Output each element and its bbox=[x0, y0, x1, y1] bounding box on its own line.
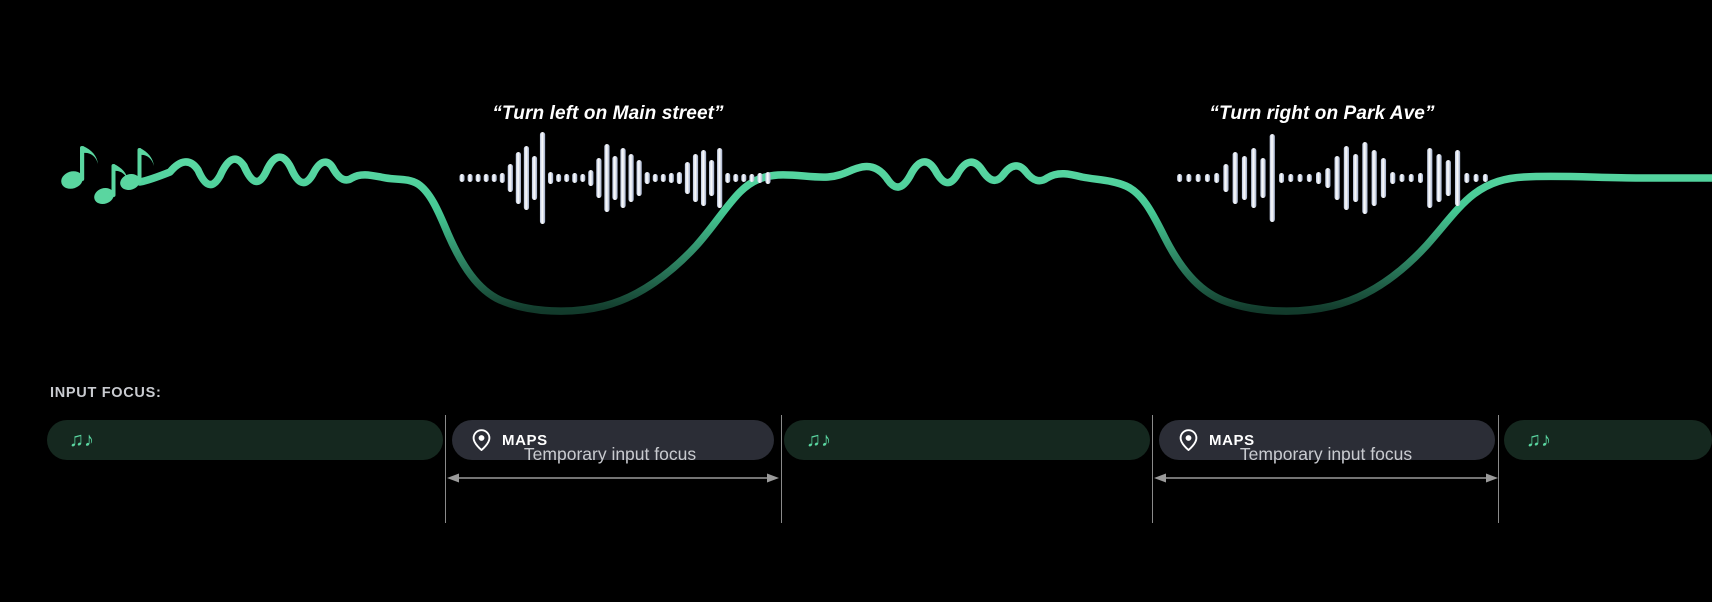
quote-1: “Turn right on Park Ave” bbox=[1209, 103, 1434, 125]
map-pin-icon bbox=[1179, 429, 1198, 451]
waveform-illustration: “Turn left on Main street” “Turn right o… bbox=[0, 0, 1712, 340]
diagram-canvas: “Turn left on Main street” “Turn right o… bbox=[0, 0, 1712, 602]
music-notes-icon: ♫♪ bbox=[69, 430, 94, 450]
music-notes-icon bbox=[59, 146, 154, 207]
music-notes-icon: ♫♪ bbox=[1526, 430, 1551, 450]
timeline-segment-music-3[interactable]: ♫♪ bbox=[1504, 420, 1712, 460]
span-label-0: Temporary input focus bbox=[524, 444, 696, 465]
timeline-segment-music-2[interactable]: ♫♪ bbox=[784, 420, 1150, 460]
quote-0: “Turn left on Main street” bbox=[492, 103, 723, 125]
map-pin-icon bbox=[472, 429, 491, 451]
voice-bars-group-2 bbox=[1177, 134, 1488, 222]
span-arrow-0 bbox=[446, 468, 786, 488]
span-label-1: Temporary input focus bbox=[1240, 444, 1412, 465]
waveform-svg bbox=[0, 0, 1712, 340]
timeline-segment-music-1[interactable]: ♫♪ bbox=[47, 420, 443, 460]
span-arrow-1 bbox=[1153, 468, 1505, 488]
input-focus-label: INPUT FOCUS: bbox=[50, 385, 162, 401]
music-notes-icon: ♫♪ bbox=[806, 430, 831, 450]
